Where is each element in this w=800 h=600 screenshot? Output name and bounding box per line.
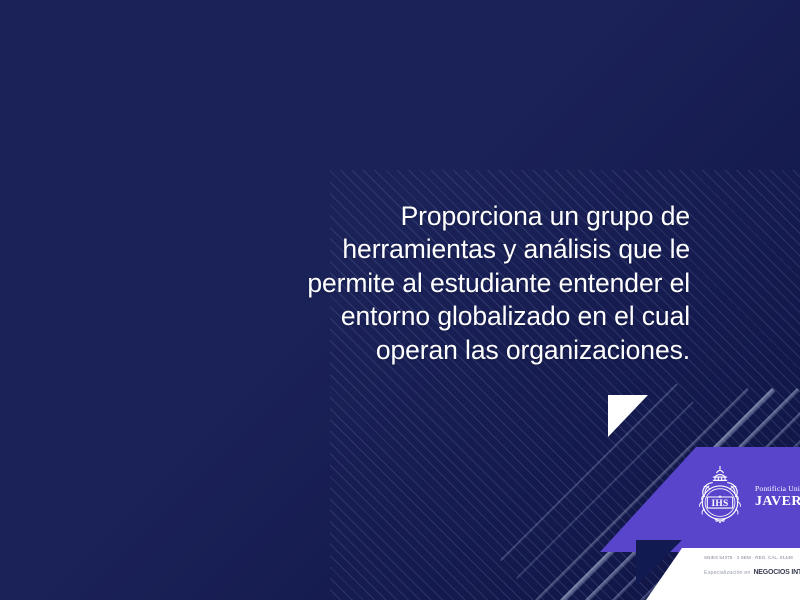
wordmark-top-line: Pontificia Universidad [755, 485, 800, 493]
presentation-slide: Proporciona un grupo de herramientas y a… [0, 0, 800, 600]
javeriana-crest-icon: IHS [692, 466, 748, 528]
program-line: Especialización en NEGOCIOS INTERNACIONA… [704, 569, 800, 576]
svg-text:IHS: IHS [711, 499, 728, 509]
university-logo: IHS Pontificia Universidad JAVERIANA [692, 466, 800, 528]
snies-registration-line: SNIES 54375 · 2 SEM · REG. CAL. 01448 [704, 556, 800, 561]
slide-body-text: Proporciona un grupo de herramientas y a… [230, 200, 690, 367]
footer-text-block: SNIES 54375 · 2 SEM · REG. CAL. 01448 Es… [704, 556, 800, 576]
program-prefix: Especialización en [704, 570, 750, 576]
wordmark-main-line: JAVERIANA [755, 495, 800, 509]
university-wordmark: Pontificia Universidad JAVERIANA [755, 485, 800, 509]
program-name: NEGOCIOS INTERNACIONALES [753, 569, 800, 576]
